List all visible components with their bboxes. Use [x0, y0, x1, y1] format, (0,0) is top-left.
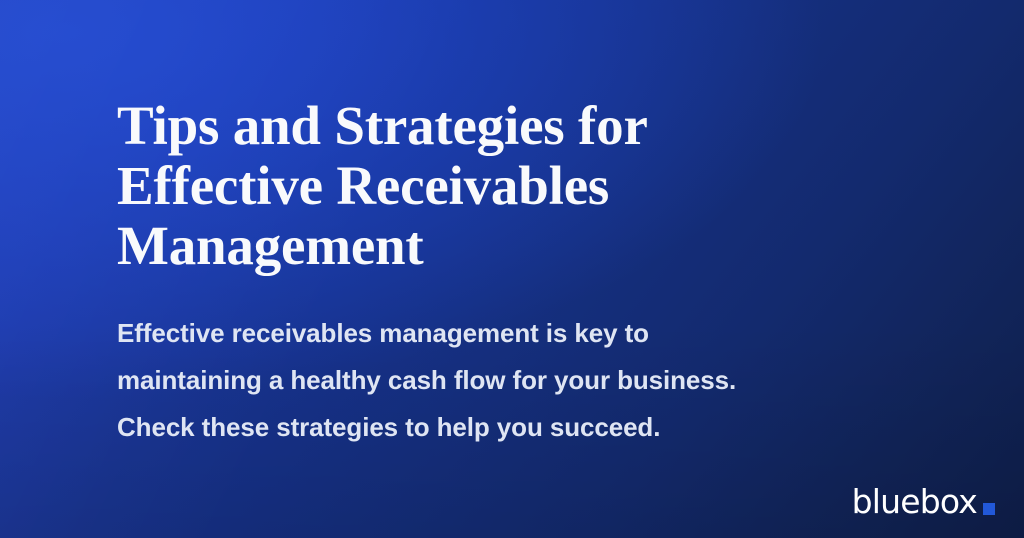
page-title: Tips and Strategies for Effective Receiv… — [117, 96, 917, 276]
brand-logo-wordmark: bluebox — [852, 485, 977, 518]
banner-content: Tips and Strategies for Effective Receiv… — [117, 96, 917, 451]
brand-logo: bluebox — [852, 485, 995, 518]
brand-square-dot-icon — [983, 503, 995, 515]
promo-banner: Tips and Strategies for Effective Receiv… — [0, 0, 1024, 538]
banner-subtitle: Effective receivables management is key … — [117, 310, 817, 451]
